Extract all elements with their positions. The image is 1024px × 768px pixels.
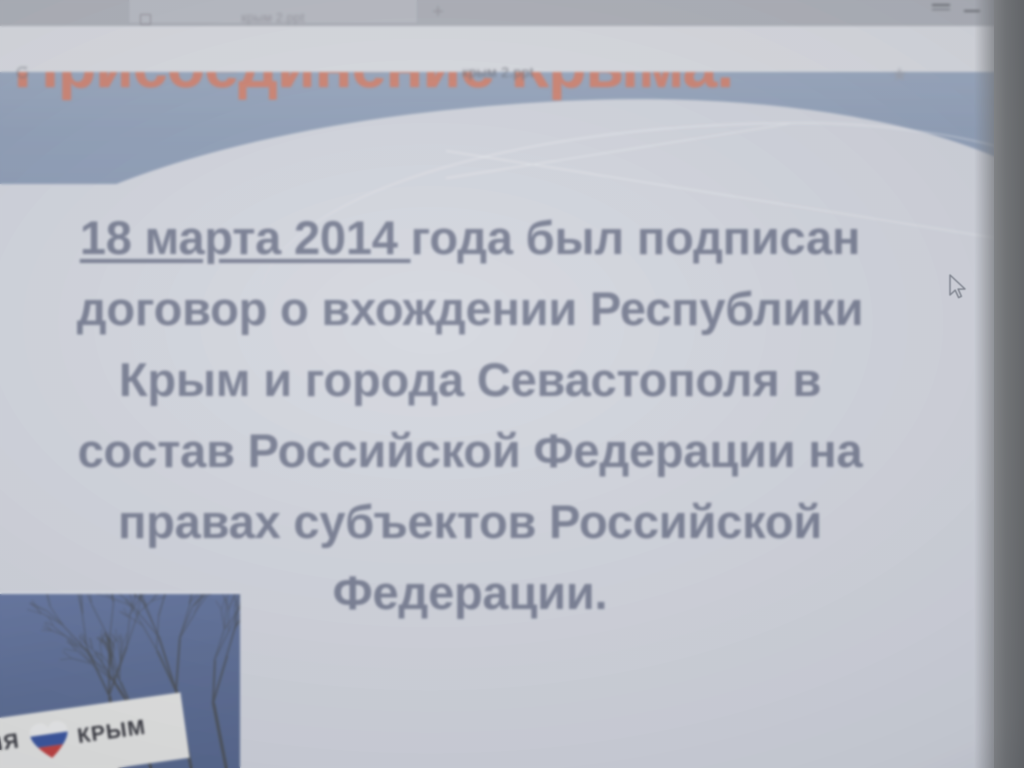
russian-flag-heart-icon: [27, 718, 72, 761]
new-tab-button[interactable]: +: [428, 2, 448, 22]
projected-screen-photo: крым 2.ppt + крым 2.ppt ★: [0, 0, 1024, 768]
hamburger-menu-icon[interactable]: [932, 4, 950, 18]
browser-tab-title: крым 2.ppt: [168, 10, 378, 26]
wall-edge-soft: [974, 0, 996, 768]
address-bar-text[interactable]: крым 2.ppt: [0, 62, 996, 82]
browser-chrome: крым 2.ppt + крым 2.ppt ★: [0, 0, 996, 72]
presentation-slide: Присоединение Крыма. 18 марта 2014 года …: [0, 64, 996, 768]
projection-screen: крым 2.ppt + крым 2.ppt ★: [0, 0, 996, 768]
slide-body-line: 18 марта 2014 года был подписан: [0, 202, 950, 273]
wall-right-edge: [994, 0, 1024, 768]
slide-image-crimea-banner: ЛЯ: [0, 592, 240, 768]
photo-banner-text-right: КРЫМ: [76, 716, 148, 749]
slide-body-text: 18 марта 2014 года был подписан договор …: [0, 202, 950, 628]
slide-body-line-0-underlined: 18 марта 2014: [80, 211, 411, 264]
slide-body-line: правах субъектов Российской: [0, 486, 950, 557]
slide-body-line-0-rest: года был подписан: [411, 211, 861, 264]
file-icon: [140, 14, 151, 25]
photo-banner-text-left: ЛЯ: [0, 729, 21, 757]
slide-body-line: состав Российской Федерации на: [0, 415, 950, 486]
slide-body-line: договор о вхождении Республики: [0, 273, 950, 344]
mouse-pointer: [948, 274, 968, 302]
slide-body-line: Крым и города Севастополя в: [0, 344, 950, 415]
bookmark-star-icon[interactable]: ★: [891, 66, 908, 85]
address-bar[interactable]: крым 2.ppt ★: [0, 26, 996, 72]
